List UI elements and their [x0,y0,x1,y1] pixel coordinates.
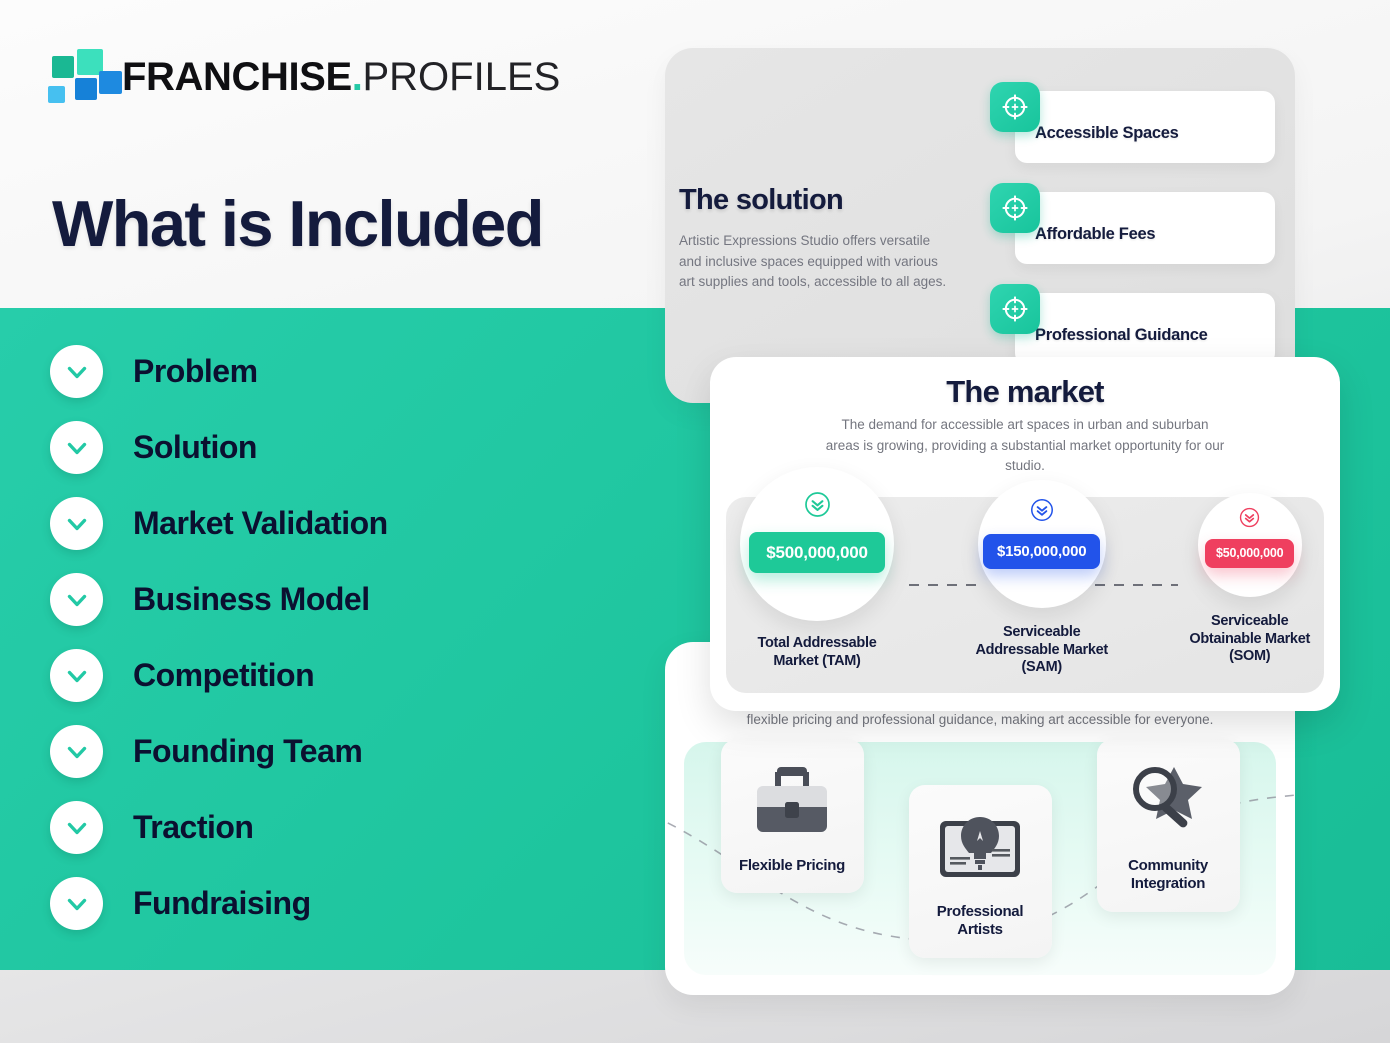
segment-circle: $50,000,000 [1198,493,1302,597]
traction-tile[interactable]: Flexible Pricing [721,739,864,893]
crosshair-target-icon [990,82,1040,132]
sidebar-item-traction[interactable]: Traction [50,801,388,854]
lightbulb-certificate-icon [917,801,1044,893]
chevron-down-icon [50,725,103,778]
segment-caption: Serviceable Addressable Market (SAM) [975,624,1107,677]
solution-feature-label: Accessible Spaces [1035,124,1179,143]
double-chevron-down-icon [1239,507,1260,533]
traction-tile[interactable]: Professional Artists [909,785,1052,958]
traction-tile-label: Professional Artists [917,903,1044,940]
crosshair-target-icon [990,284,1040,334]
double-chevron-down-icon [1030,498,1054,527]
brand-name-thin: PROFILES [362,55,560,99]
toc-item-label: Problem [133,353,258,390]
market-segment-sam[interactable]: $150,000,000 Serviceable Addressable Mar… [975,467,1107,677]
toc-item-label: Founding Team [133,733,362,770]
sidebar-item-business-model[interactable]: Business Model [50,573,388,626]
toc-list: Problem Solution Market Validation Busin… [50,345,388,930]
toc-item-label: Business Model [133,581,370,618]
segment-circle: $500,000,000 [740,467,894,621]
solution-card: The solution Artistic Expressions Studio… [665,48,1295,403]
traction-tile-label: Community Integration [1105,857,1232,894]
toc-item-label: Solution [133,429,257,466]
double-chevron-down-icon [804,491,831,523]
sidebar-item-problem[interactable]: Problem [50,345,388,398]
traction-tile-list: Flexible Pricing [665,747,1295,958]
brand-name-bold: FRANCHISE [122,55,352,99]
solution-feature-list: Accessible Spaces Affordable Fees [990,82,1290,365]
traction-tile[interactable]: Community Integration [1097,739,1240,912]
toc-item-label: Competition [133,657,314,694]
sidebar-item-founding-team[interactable]: Founding Team [50,725,388,778]
chevron-down-icon [50,801,103,854]
brand-wordmark: FRANCHISE.PROFILES [122,57,560,97]
solution-card-description: Artistic Expressions Studio offers versa… [679,231,951,293]
solution-feature-item[interactable]: Affordable Fees [990,183,1290,264]
crosshair-target-icon [990,183,1040,233]
solution-feature-label: Professional Guidance [1035,326,1208,345]
traction-tile-label: Flexible Pricing [729,857,856,875]
chevron-down-icon [50,421,103,474]
chevron-down-icon [50,649,103,702]
segment-caption: Total Addressable Market (TAM) [758,635,877,670]
segment-caption: Serviceable Obtainable Market (SOM) [1189,613,1310,666]
segment-value-pill: $50,000,000 [1205,539,1294,568]
market-segment-som[interactable]: $50,000,000 Serviceable Obtainable Marke… [1189,467,1310,666]
chevron-down-icon [50,877,103,930]
market-card: The market The demand for accessible art… [710,357,1340,711]
segment-circle: $150,000,000 [978,480,1106,608]
magnifier-star-icon [1105,755,1232,847]
brand-logo[interactable]: FRANCHISE.PROFILES [46,48,560,104]
sidebar-item-competition[interactable]: Competition [50,649,388,702]
brand-name-dot: . [352,55,363,99]
toc-item-label: Fundraising [133,885,311,922]
chevron-down-icon [50,497,103,550]
toc-item-label: Traction [133,809,253,846]
chevron-down-icon [50,573,103,626]
solution-card-title: The solution [679,184,843,217]
sidebar-item-market-validation[interactable]: Market Validation [50,497,388,550]
segment-value-pill: $500,000,000 [749,532,885,573]
traction-card-description: flexible pricing and professional guidan… [665,710,1295,731]
segment-value-pill: $150,000,000 [983,534,1100,569]
left-panel: FRANCHISE.PROFILES What is Included Prob… [0,0,660,1043]
market-segment-tam[interactable]: $500,000,000 Total Addressable Market (T… [740,467,894,670]
page-title: What is Included [52,190,543,258]
sidebar-item-fundraising[interactable]: Fundraising [50,877,388,930]
solution-feature-item[interactable]: Accessible Spaces [990,82,1290,163]
chevron-down-icon [50,345,103,398]
deck-preview-stage: The solution Artistic Expressions Studio… [660,0,1390,1043]
market-segment-list: $500,000,000 Total Addressable Market (T… [726,467,1324,677]
sidebar-item-solution[interactable]: Solution [50,421,388,474]
market-card-title: The market [710,374,1340,410]
toc-item-label: Market Validation [133,505,388,542]
solution-feature-item[interactable]: Professional Guidance [990,284,1290,365]
squares-logo-icon [46,48,104,104]
briefcase-icon [729,755,856,847]
solution-feature-label: Affordable Fees [1035,225,1155,244]
